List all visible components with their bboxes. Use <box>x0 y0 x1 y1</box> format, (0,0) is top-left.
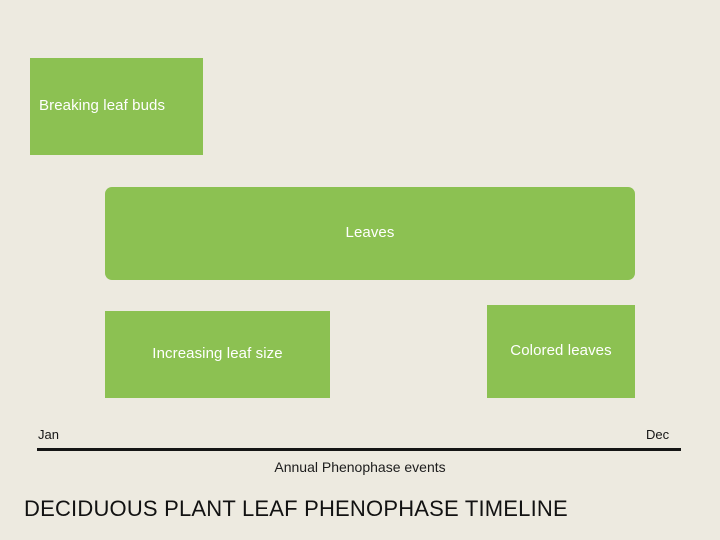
slide-canvas: Breaking leaf buds Leaves Increasing lea… <box>0 0 720 540</box>
phenophase-bar-leaves[interactable]: Leaves <box>105 187 635 280</box>
slide-title: DECIDUOUS PLANT LEAF PHENOPHASE TIMELINE <box>24 496 568 522</box>
phenophase-bar-label: Breaking leaf buds <box>39 98 165 115</box>
axis-caption: Annual Phenophase events <box>0 459 720 475</box>
phenophase-bar-label: Increasing leaf size <box>152 346 282 363</box>
phenophase-bar-increasing-leaf-size[interactable]: Increasing leaf size <box>105 311 330 398</box>
phenophase-bar-label: Leaves <box>346 225 395 242</box>
axis-end-label: Dec <box>646 427 669 442</box>
phenophase-bar-breaking-leaf-buds[interactable]: Breaking leaf buds <box>30 58 203 155</box>
axis-start-label: Jan <box>38 427 59 442</box>
phenophase-bar-label: Colored leaves <box>510 343 611 360</box>
timeline-axis-line <box>37 448 681 451</box>
phenophase-bar-colored-leaves[interactable]: Colored leaves <box>487 305 635 398</box>
